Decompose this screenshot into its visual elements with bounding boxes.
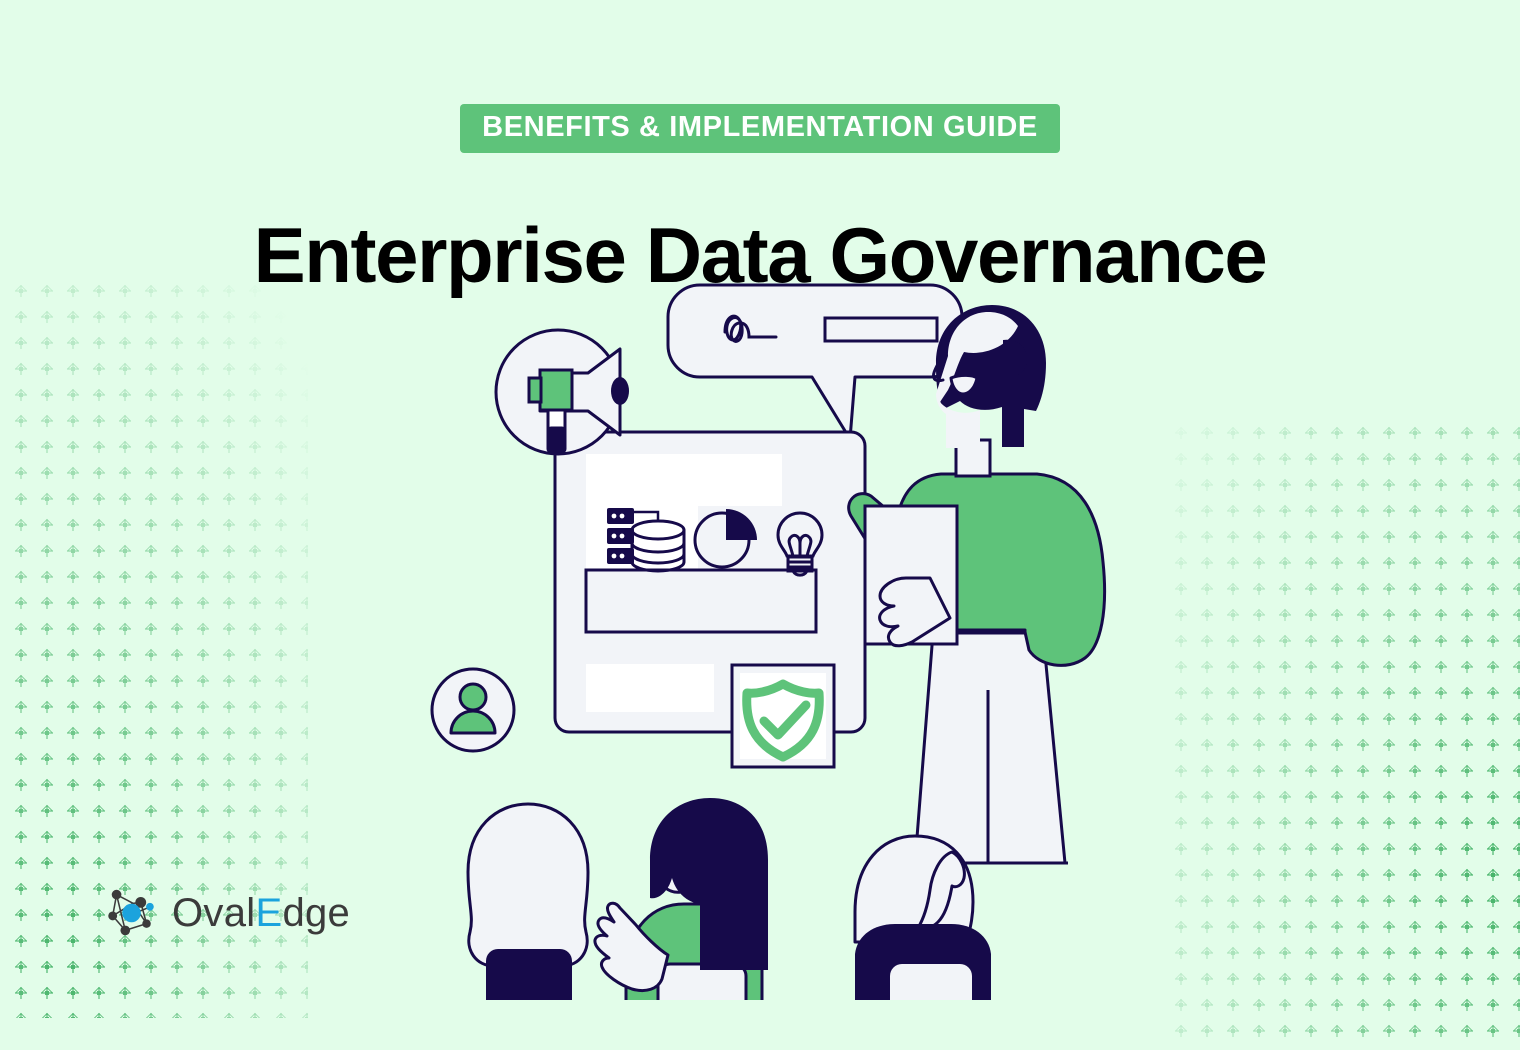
attendee-left-top <box>486 949 572 1000</box>
logo-text-dge: dge <box>282 891 350 935</box>
brand-logo[interactable]: OvalEdge <box>104 884 350 942</box>
speech-bubble-icon <box>668 285 962 439</box>
attendee-left-hair <box>468 804 588 966</box>
attendee-center <box>595 798 768 1000</box>
eyebrow-badge: BENEFITS & IMPLEMENTATION GUIDE <box>460 104 1060 153</box>
user-avatar-badge <box>432 669 514 751</box>
illustration-svg <box>400 260 1140 1000</box>
presenter-figure <box>849 305 1105 863</box>
poster-canvas: BENEFITS & IMPLEMENTATION GUIDE Enterpri… <box>0 0 1520 1050</box>
shield-check-box <box>732 665 834 767</box>
board-footer-block <box>586 664 714 712</box>
logo-wordmark: OvalEdge <box>172 893 350 933</box>
attendee-left <box>468 804 588 1000</box>
eyebrow-badge-container: BENEFITS & IMPLEMENTATION GUIDE <box>0 104 1520 153</box>
decorative-dot-grid-right <box>1168 420 1520 1050</box>
logo-text-e: E <box>255 891 282 935</box>
logo-text-oval: Oval <box>172 891 255 935</box>
network-nodes-icon <box>104 884 162 942</box>
hero-illustration <box>400 260 1140 1000</box>
